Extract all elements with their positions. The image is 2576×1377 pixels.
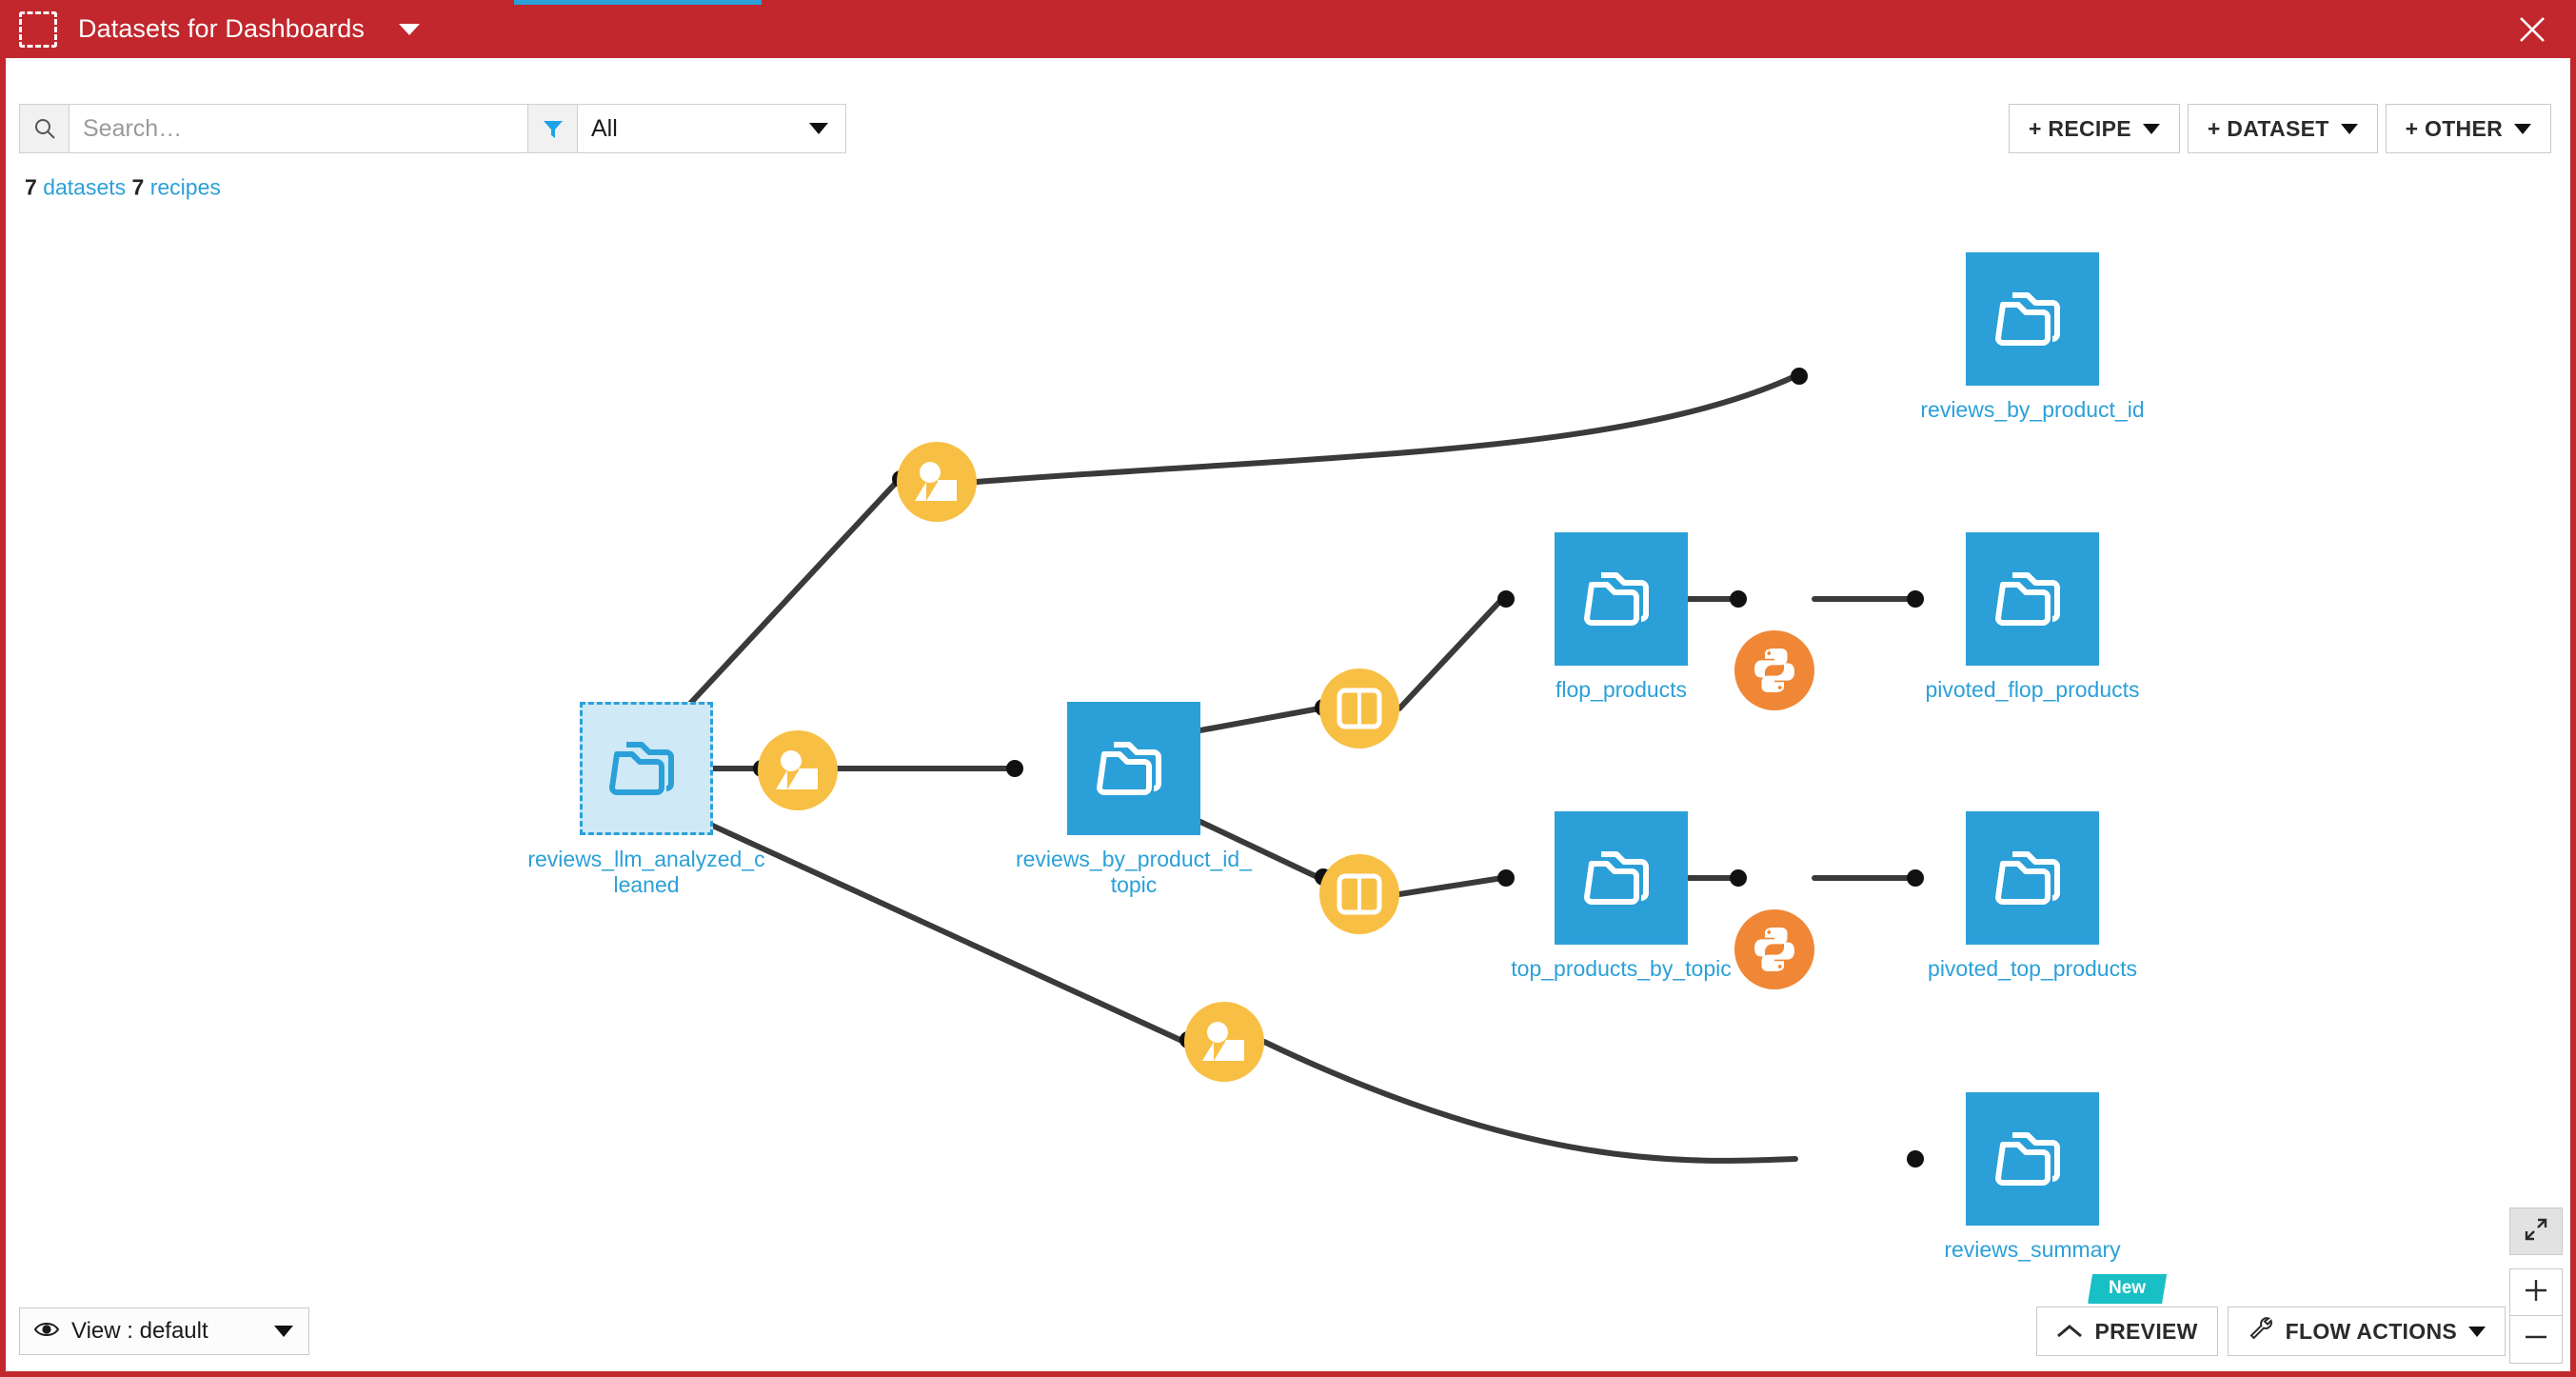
flow-body: All 7 datasets 7 recipes + RECIPE + DATA… bbox=[6, 58, 2570, 1371]
zoom-in-button[interactable] bbox=[2509, 1268, 2563, 1316]
flow-actions-button[interactable]: FLOW ACTIONS bbox=[2228, 1307, 2506, 1356]
flow-bottom-bar: View : default New PREVIEW bbox=[6, 1291, 2570, 1371]
eye-icon bbox=[33, 1320, 60, 1344]
flow-edges bbox=[6, 140, 2570, 1340]
group-recipe-icon[interactable] bbox=[1319, 669, 1399, 748]
close-icon[interactable] bbox=[2513, 10, 2551, 49]
view-select-label: View : default bbox=[71, 1318, 208, 1345]
flow-toolbar: All 7 datasets 7 recipes + RECIPE + DATA… bbox=[6, 58, 2570, 140]
flow-actions-label: FLOW ACTIONS bbox=[2286, 1319, 2457, 1345]
chevron-down-icon bbox=[2341, 124, 2358, 134]
dataset-node-pivoted-top-products[interactable]: pivoted_top_products bbox=[1913, 811, 2151, 982]
add-recipe-label: + RECIPE bbox=[2029, 116, 2131, 142]
dataset-node-reviews-llm-analyzed-cleaned[interactable]: reviews_llm_analyzed_cleaned bbox=[527, 702, 765, 898]
chevron-down-icon bbox=[274, 1326, 293, 1337]
title-bar: Datasets for Dashboards bbox=[0, 0, 2576, 58]
dataset-node-pivoted-flop-products[interactable]: pivoted_flop_products bbox=[1913, 532, 2151, 703]
filter-value: All bbox=[591, 115, 618, 143]
minus-icon bbox=[2522, 1323, 2550, 1356]
dashed-square-icon bbox=[19, 11, 57, 48]
dataset-label: reviews_by_product_id_topic bbox=[1015, 847, 1253, 898]
dataset-folder-icon bbox=[1966, 1092, 2099, 1226]
zoom-controls bbox=[2509, 1268, 2563, 1364]
page-title: Datasets for Dashboards bbox=[78, 14, 365, 44]
flow-window: Datasets for Dashboards bbox=[0, 0, 2576, 1377]
chevron-down-icon[interactable] bbox=[399, 24, 420, 35]
dataset-node-reviews-by-product-id-topic[interactable]: reviews_by_product_id_topic bbox=[1015, 702, 1253, 898]
wrench-icon bbox=[2248, 1315, 2274, 1347]
dataset-node-reviews-summary[interactable]: reviews_summary bbox=[1913, 1092, 2151, 1263]
chevron-down-icon bbox=[2468, 1327, 2486, 1337]
dataset-node-flop-products[interactable]: flop_products bbox=[1502, 532, 1740, 703]
dataset-label: flop_products bbox=[1502, 677, 1740, 703]
dataset-folder-icon bbox=[580, 702, 713, 835]
view-select[interactable]: View : default bbox=[19, 1307, 309, 1355]
dataset-node-reviews-by-product-id[interactable]: reviews_by_product_id bbox=[1913, 252, 2151, 423]
dataset-node-top-products-by-topic[interactable]: top_products_by_topic bbox=[1502, 811, 1740, 982]
dataset-folder-icon bbox=[1966, 252, 2099, 386]
chevron-up-icon bbox=[2056, 1319, 2083, 1345]
group-recipe-icon[interactable] bbox=[1319, 854, 1399, 934]
add-dataset-label: + DATASET bbox=[2208, 116, 2329, 142]
dataset-label: reviews_by_product_id bbox=[1913, 397, 2151, 423]
chevron-down-icon bbox=[2143, 124, 2160, 134]
prepare-recipe-icon[interactable] bbox=[897, 442, 977, 522]
python-recipe-icon[interactable] bbox=[1734, 909, 1814, 989]
dataset-folder-icon bbox=[1555, 811, 1688, 945]
fit-to-screen-button[interactable] bbox=[2509, 1207, 2563, 1255]
dataset-label: pivoted_flop_products bbox=[1913, 677, 2151, 703]
dataset-label: top_products_by_topic bbox=[1502, 956, 1740, 982]
bottom-right-actions: New PREVIEW bbox=[2036, 1307, 2506, 1356]
dataset-folder-icon bbox=[1966, 532, 2099, 666]
prepare-recipe-icon[interactable] bbox=[1184, 1002, 1264, 1082]
dataset-folder-icon bbox=[1555, 532, 1688, 666]
dataset-label: reviews_llm_analyzed_cleaned bbox=[527, 847, 765, 898]
python-recipe-icon[interactable] bbox=[1734, 630, 1814, 710]
preview-label: PREVIEW bbox=[2094, 1319, 2197, 1345]
dataset-folder-icon bbox=[1966, 811, 2099, 945]
chevron-down-icon bbox=[2514, 124, 2531, 134]
expand-arrows-icon bbox=[2524, 1217, 2548, 1247]
preview-wrapper: New PREVIEW bbox=[2036, 1307, 2217, 1356]
dataset-label: reviews_summary bbox=[1913, 1237, 2151, 1263]
dataset-label: pivoted_top_products bbox=[1913, 956, 2151, 982]
new-badge: New bbox=[2088, 1274, 2167, 1304]
preview-button[interactable]: PREVIEW bbox=[2036, 1307, 2217, 1356]
plus-icon bbox=[2522, 1276, 2550, 1309]
dataset-folder-icon bbox=[1067, 702, 1200, 835]
zoom-out-button[interactable] bbox=[2509, 1316, 2563, 1364]
top-accent-sliver bbox=[514, 0, 762, 5]
chevron-down-icon bbox=[809, 123, 828, 134]
flow-canvas[interactable]: reviews_by_product_id flop_products bbox=[6, 140, 2570, 1371]
prepare-recipe-icon[interactable] bbox=[758, 730, 838, 810]
add-other-label: + OTHER bbox=[2406, 116, 2503, 142]
